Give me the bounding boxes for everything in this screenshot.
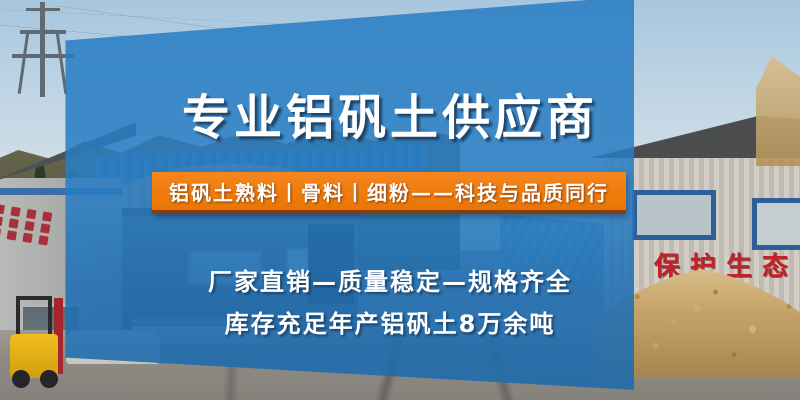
banner-content: 专业铝矾土供应商 铝矾土熟料丨骨料丨细粉——科技与品质同行 厂家直销—质量稳定—… [0, 0, 800, 400]
subline-2: 库存充足年产铝矾土8万余吨 [155, 304, 625, 339]
subline-1: 厂家直销—质量稳定—规格齐全 [155, 262, 625, 297]
orange-ribbon: 铝矾土熟料丨骨料丨细粉——科技与品质同行 [152, 172, 626, 214]
headline-title: 专业铝矾土供应商 [155, 78, 625, 148]
ribbon-tagline: 铝矾土熟料丨骨料丨细粉——科技与品质同行 [169, 177, 609, 206]
promotional-banner: 保护生态 专业铝矾土供应商 铝矾土熟料丨骨料丨细粉——科技与品质同行 厂家直销—… [0, 0, 800, 400]
